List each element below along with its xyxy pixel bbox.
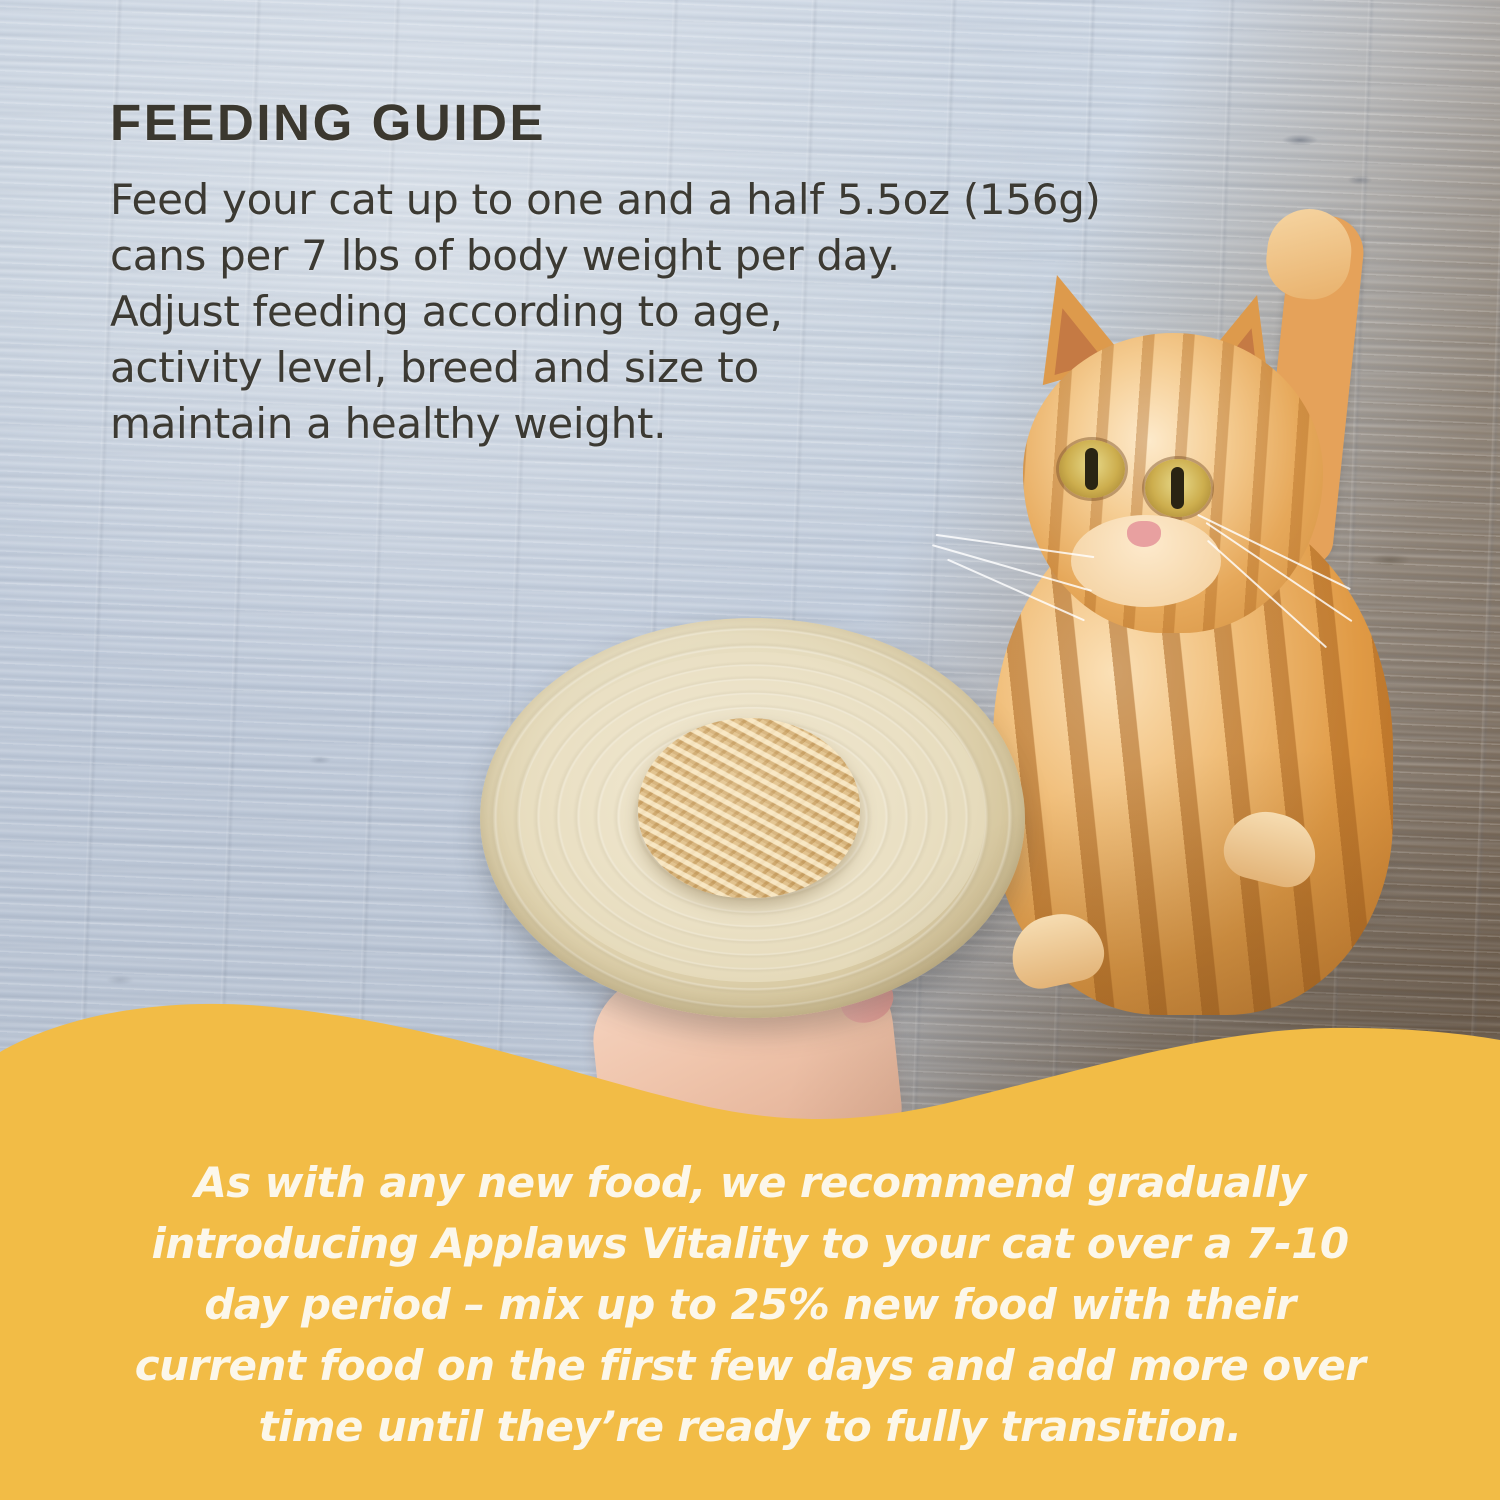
banner-line: time until they’re ready to fully transi… (0, 1396, 1500, 1457)
body-copy-line: cans per 7 lbs of body weight per day. (110, 228, 1290, 284)
body-copy-line: maintain a healthy weight. (110, 396, 1290, 452)
page-title: FEEDING GUIDE (110, 96, 1290, 150)
banner-line: current food on the first few days and a… (0, 1335, 1500, 1396)
body-copy-line: Adjust feeding according to age, (110, 284, 1290, 340)
feeding-guide-copy-block: FEEDING GUIDE Feed your cat up to one an… (110, 96, 1290, 452)
cat-pupil-left (1085, 448, 1098, 490)
banner-line: day period – mix up to 25% new food with… (0, 1274, 1500, 1335)
cat-pupil-right (1171, 467, 1184, 509)
transition-advice-text: As with any new food, we recommend gradu… (0, 1152, 1500, 1457)
banner-line: introducing Applaws Vitality to your cat… (0, 1213, 1500, 1274)
cat-nose (1127, 521, 1161, 547)
body-copy-line: activity level, breed and size to (110, 340, 1290, 396)
banner-line: As with any new food, we recommend gradu… (0, 1152, 1500, 1213)
feeding-instructions-text: Feed your cat up to one and a half 5.5oz… (110, 172, 1290, 452)
body-copy-line: Feed your cat up to one and a half 5.5oz… (110, 172, 1290, 228)
